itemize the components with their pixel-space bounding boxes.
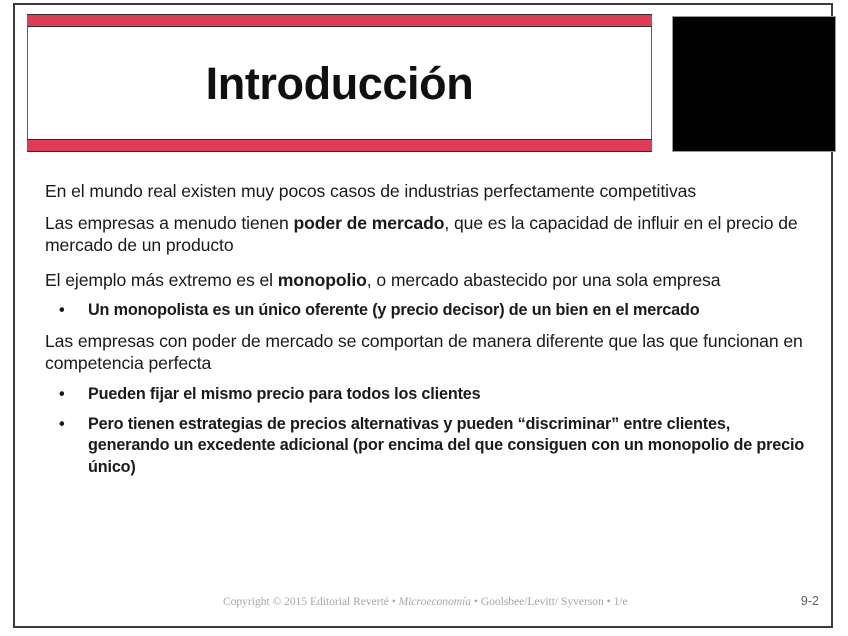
slide-footer: Copyright © 2015 Editorial Reverté • Mic… bbox=[15, 596, 831, 612]
paragraph-2: Las empresas a menudo tienen poder de me… bbox=[45, 212, 813, 257]
list-item-text: Un monopolista es un único oferente (y p… bbox=[88, 301, 699, 319]
list-item: • Pueden fijar el mismo precio para todo… bbox=[45, 384, 813, 406]
copyright-post: • Goolsbee/Levitt/ Syverson • 1/e bbox=[471, 596, 628, 608]
paragraph-3: El ejemplo más extremo es el monopolio, … bbox=[45, 269, 813, 292]
paragraph-1: En el mundo real existen muy pocos casos… bbox=[45, 180, 813, 203]
page-number: 9-2 bbox=[801, 594, 819, 608]
bullet-marker-icon: • bbox=[59, 384, 65, 406]
slide-title-block: Introducción bbox=[27, 14, 652, 152]
page-title: Introducción bbox=[206, 61, 474, 106]
list-item-text: Pero tienen estrategias de precios alter… bbox=[88, 415, 804, 476]
copyright-book-title: Microeconomía bbox=[399, 596, 471, 608]
paragraph-3-emphasis: monopolio bbox=[278, 270, 367, 290]
paragraph-3-post: , o mercado abastecido por una sola empr… bbox=[367, 270, 721, 290]
title-box: Introducción bbox=[27, 27, 652, 139]
paragraph-2-pre: Las empresas a menudo tienen bbox=[45, 213, 293, 233]
paragraph-1-text: En el mundo real existen muy pocos casos… bbox=[45, 181, 696, 201]
paragraph-2-emphasis: poder de mercado bbox=[293, 213, 444, 233]
slide-body: En el mundo real existen muy pocos casos… bbox=[45, 180, 813, 487]
list-item: • Un monopolista es un único oferente (y… bbox=[45, 300, 813, 322]
title-bottom-rule bbox=[27, 139, 652, 152]
bullet-marker-icon: • bbox=[59, 300, 65, 322]
paragraph-3-pre: El ejemplo más extremo es el bbox=[45, 270, 278, 290]
bullet-marker-icon: • bbox=[59, 414, 65, 436]
list-item-text: Pueden fijar el mismo precio para todos … bbox=[88, 385, 481, 403]
image-placeholder-box bbox=[672, 16, 836, 152]
slide-canvas: Introducción En el mundo real existen mu… bbox=[13, 3, 833, 628]
title-top-rule bbox=[27, 14, 652, 27]
copyright-pre: Copyright © 2015 Editorial Reverté • bbox=[223, 596, 399, 608]
copyright-notice: Copyright © 2015 Editorial Reverté • Mic… bbox=[223, 596, 628, 608]
paragraph-4: Las empresas con poder de mercado se com… bbox=[45, 330, 813, 375]
list-item: • Pero tienen estrategias de precios alt… bbox=[45, 414, 813, 479]
paragraph-4-text: Las empresas con poder de mercado se com… bbox=[45, 331, 803, 374]
